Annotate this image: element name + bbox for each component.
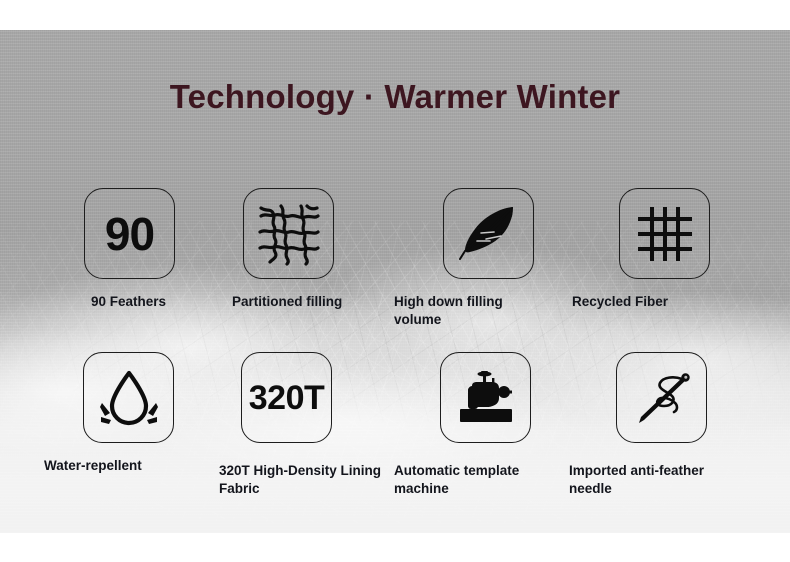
feature-item-320t-lining-fabric: 320T 320T High-Density Lining Fabric: [219, 352, 394, 498]
page-title: Technology · Warmer Winter: [0, 78, 790, 116]
feature-label: 90 Feathers: [44, 293, 219, 311]
number-90-icon: 90: [84, 188, 175, 279]
feature-label: Partitioned filling: [219, 293, 394, 311]
grid-icon: [619, 188, 710, 279]
feature-item-automatic-template-machine: Automatic template machine: [394, 352, 569, 498]
water-droplet-icon: [83, 352, 174, 443]
feature-label: Recycled Fiber: [569, 293, 744, 311]
feature-label: Water-repellent: [44, 457, 219, 475]
feature-item-partitioned-filling: Partitioned filling: [219, 188, 394, 311]
feature-item-anti-feather-needle: Imported anti-feather needle: [569, 352, 744, 498]
feature-label: 320T High-Density Lining Fabric: [219, 462, 409, 498]
number-320t-icon-text: 320T: [249, 381, 325, 415]
sewing-machine-icon: [440, 352, 531, 443]
feature-label: High down filling volume: [394, 293, 534, 329]
number-320t-icon: 320T: [241, 352, 332, 443]
needle-thread-icon-glyph: [630, 366, 694, 430]
grid-icon-glyph: [634, 203, 696, 265]
needle-thread-icon: [616, 352, 707, 443]
feather-icon-glyph: [456, 201, 522, 267]
feature-item-water-repellent: Water-repellent: [44, 352, 219, 475]
feature-label: Automatic template machine: [394, 462, 559, 498]
feather-icon: [443, 188, 534, 279]
mesh-web-icon-glyph: [257, 202, 321, 266]
feature-item-high-down-filling-volume: High down filling volume: [394, 188, 569, 329]
product-feature-banner: Technology · Warmer Winter 90 90 Feather…: [0, 30, 790, 533]
feature-item-recycled-fiber: Recycled Fiber: [569, 188, 744, 311]
number-90-icon-text: 90: [105, 211, 154, 257]
water-droplet-icon-glyph: [98, 367, 160, 429]
banner-content: Technology · Warmer Winter 90 90 Feather…: [0, 30, 790, 533]
mesh-web-icon: [243, 188, 334, 279]
feature-item-90-feathers: 90 90 Feathers: [44, 188, 219, 311]
sewing-machine-icon-glyph: [454, 368, 518, 428]
feature-label: Imported anti-feather needle: [569, 462, 744, 498]
